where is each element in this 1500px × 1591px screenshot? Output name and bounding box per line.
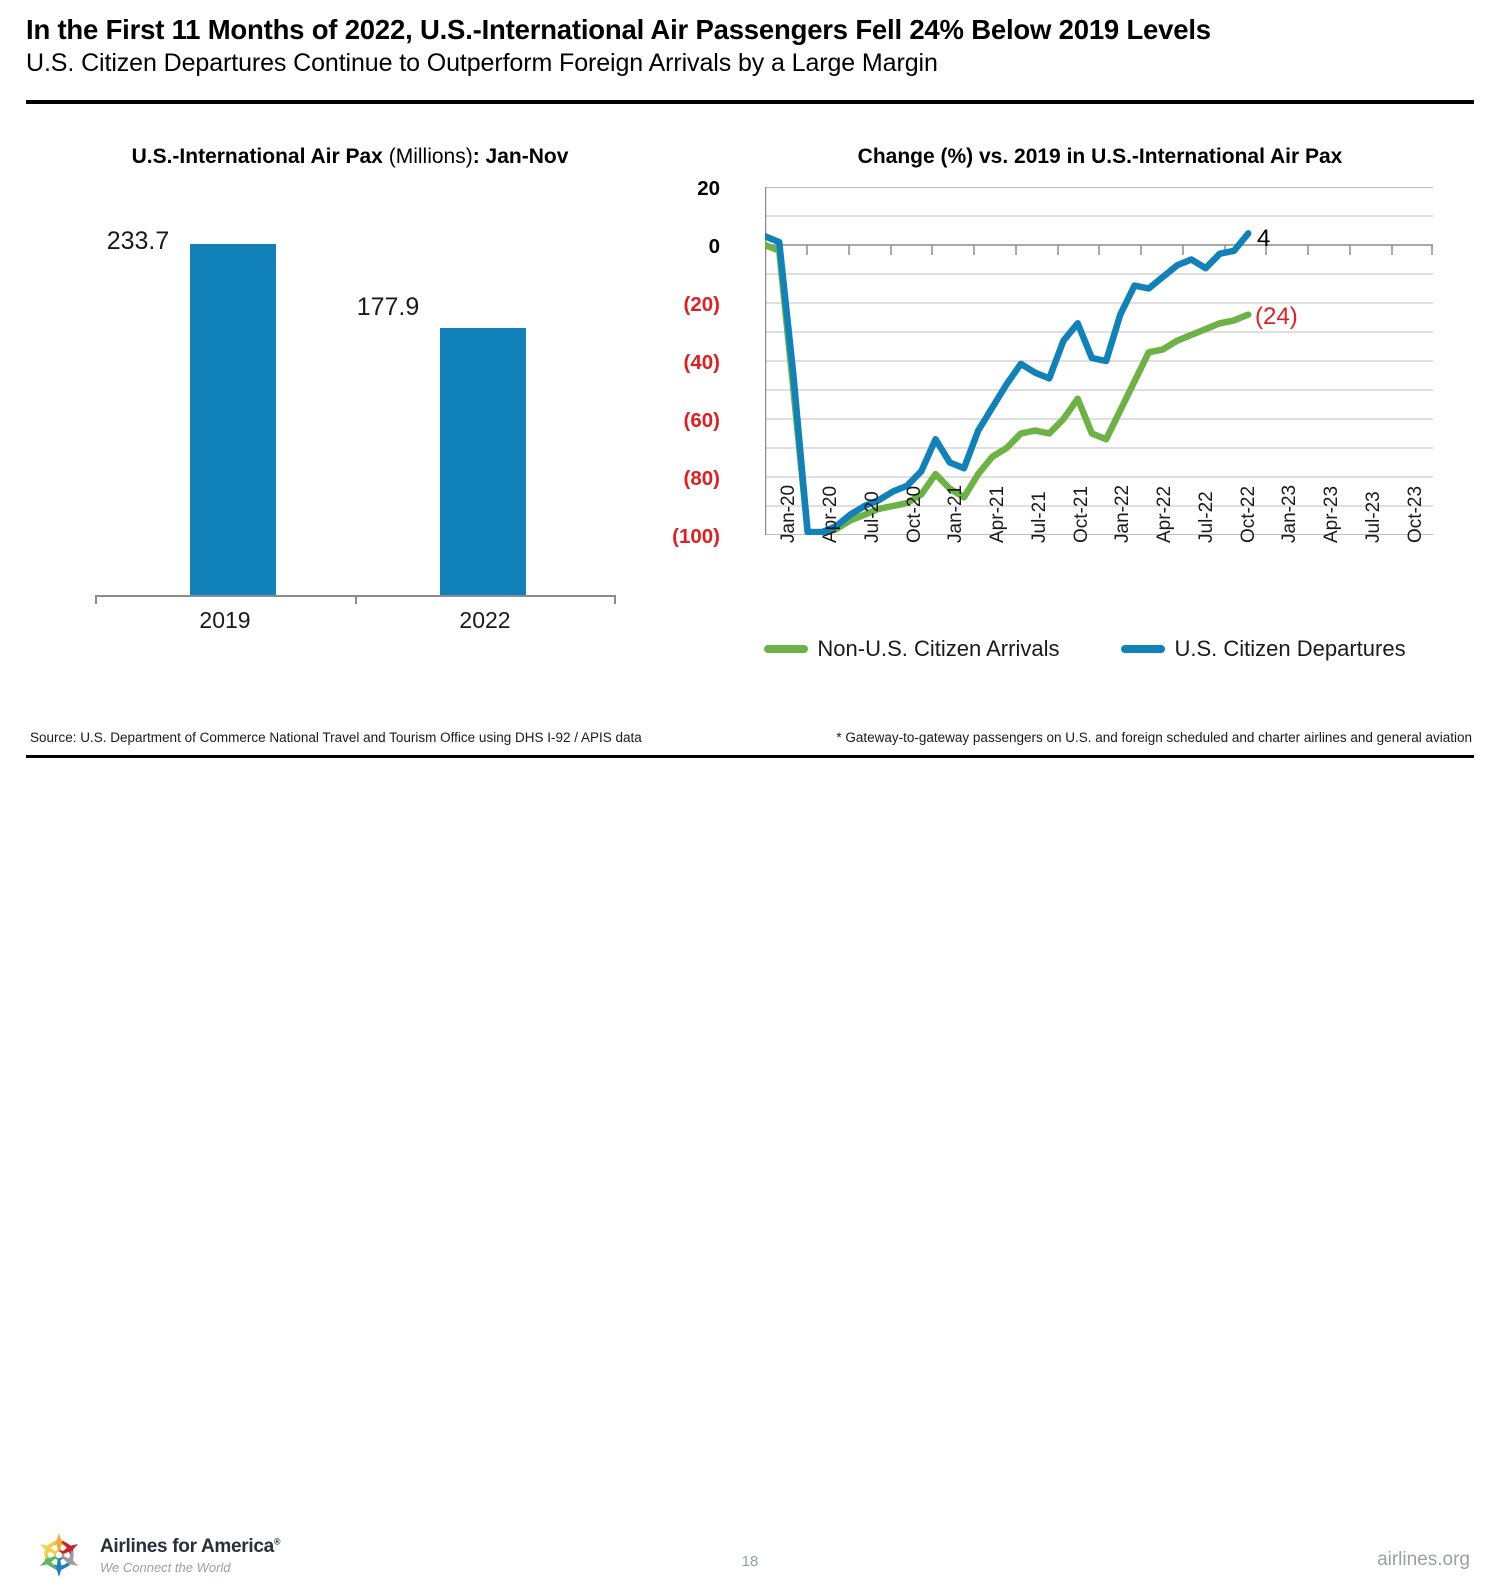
bar-plot-area (95, 205, 615, 595)
y-tick-0: 0 (640, 237, 720, 258)
bar-value-2022: 177.9 (308, 293, 468, 322)
legend-item-us-citizen-departures[interactable]: U.S. Citizen Departures (1121, 636, 1405, 662)
bar-chart-panel: U.S.-International Air Pax (Millions): J… (30, 145, 670, 575)
slide: In the First 11 Months of 2022, U.S.-Int… (0, 0, 1500, 835)
y-tick-n40: (40) (640, 353, 720, 374)
logo-registered-mark: ® (274, 1536, 280, 1546)
x-tick-label-4: Jan-21 (945, 485, 967, 543)
slide-footer: Airlines for America® We Connect the Wor… (0, 758, 1500, 835)
y-tick-n20: (20) (640, 295, 720, 316)
gateway-note: * Gateway-to-gateway passengers on U.S. … (836, 730, 1472, 745)
legend-label-non-us-citizen-arrivals: Non-U.S. Citizen Arrivals (817, 636, 1059, 662)
x-tick-label-11: Oct-22 (1238, 486, 1260, 543)
x-tick-label-2: Jul-20 (862, 491, 884, 543)
x-tick-label-7: Oct-21 (1071, 486, 1093, 543)
bar-rect-2022 (440, 328, 526, 595)
y-tick-20: 20 (640, 179, 720, 200)
y-tick-n80: (80) (640, 469, 720, 490)
y-tick-n100: (100) (640, 527, 720, 548)
x-tick-label-9: Apr-22 (1154, 486, 1176, 543)
end-label-non-us-citizen-arrivals: (24) (1255, 303, 1298, 331)
legend-swatch-blue (1121, 645, 1165, 653)
legend-item-non-us-citizen-arrivals[interactable]: Non-U.S. Citizen Arrivals (764, 636, 1059, 662)
bar-axis-tick-right (614, 595, 616, 604)
page-title: In the First 11 Months of 2022, U.S.-Int… (26, 14, 1474, 46)
source-note: Source: U.S. Department of Commerce Nati… (30, 730, 642, 745)
x-tick-label-12: Jan-23 (1279, 485, 1301, 543)
slide-header: In the First 11 Months of 2022, U.S.-Int… (26, 14, 1474, 78)
x-tick-label-5: Apr-21 (987, 486, 1009, 543)
legend-label-us-citizen-departures: U.S. Citizen Departures (1174, 636, 1405, 662)
legend-swatch-green (764, 645, 808, 653)
end-label-us-citizen-departures: 4 (1257, 225, 1270, 253)
site-url[interactable]: airlines.org (1377, 1549, 1470, 1571)
x-tick-label-1: Apr-20 (820, 486, 842, 543)
bar-columns (95, 205, 615, 595)
x-tick-marks (766, 245, 1433, 255)
x-tick-label-0: Jan-20 (778, 485, 800, 543)
line-chart-panel: Change (%) vs. 2019 in U.S.-Internationa… (690, 145, 1480, 675)
bar-axis-tick-left (95, 595, 97, 604)
chart-legend: Non-U.S. Citizen Arrivals U.S. Citizen D… (690, 632, 1480, 666)
x-tick-label-6: Jul-21 (1029, 491, 1051, 543)
line-chart-title: Change (%) vs. 2019 in U.S.-Internationa… (750, 145, 1450, 169)
bar-axis-tick-mid (355, 595, 357, 604)
header-divider (26, 100, 1474, 104)
bar-chart-title-part1: U.S.-International Air Pax (132, 145, 383, 168)
bar-value-2019: 233.7 (58, 227, 218, 256)
x-tick-label-3: Oct-20 (904, 486, 926, 543)
line-chart-svg (765, 187, 1433, 535)
bar-chart-title: U.S.-International Air Pax (Millions): J… (30, 145, 670, 169)
bar-chart-title-part2: (Millions) (383, 145, 473, 168)
page-number: 18 (0, 1553, 1500, 1570)
x-tick-label-15: Oct-23 (1405, 486, 1427, 543)
x-tick-label-8: Jan-22 (1112, 485, 1134, 543)
bar-category-2022: 2022 (400, 607, 570, 634)
y-tick-n60: (60) (640, 411, 720, 432)
x-tick-label-13: Apr-23 (1321, 486, 1343, 543)
line-plot-area (765, 187, 1433, 535)
x-tick-label-14: Jul-23 (1363, 491, 1385, 543)
bar-chart-title-part3: : Jan-Nov (473, 145, 569, 168)
page-subtitle: U.S. Citizen Departures Continue to Outp… (26, 48, 1474, 78)
bar-rect-2019 (190, 244, 276, 595)
x-tick-label-10: Jul-22 (1196, 491, 1218, 543)
bar-category-2019: 2019 (140, 607, 310, 634)
